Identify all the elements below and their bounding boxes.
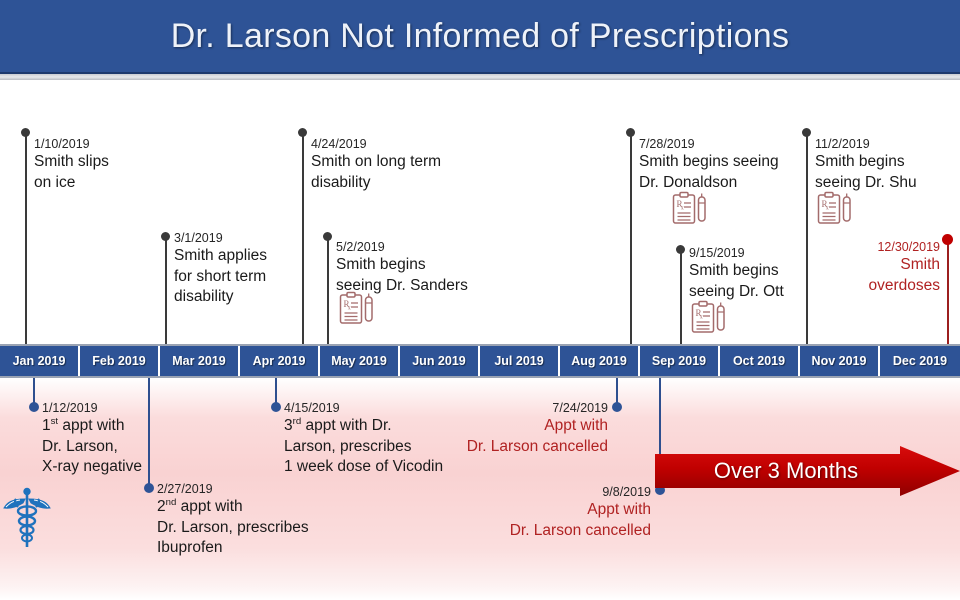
- marker-dot-3-1: [161, 232, 170, 241]
- month-cell-mar[interactable]: Mar 2019: [160, 346, 238, 376]
- event-desc-line: Dr. Larson cancelled: [440, 437, 608, 458]
- event-date: 3/1/2019: [174, 230, 267, 246]
- connector-line-9-15: [680, 250, 682, 348]
- prescription-icon: R x: [816, 191, 854, 227]
- event-above-5-2: 5/2/2019 Smith begins seeing Dr. Sanders: [336, 239, 468, 296]
- event-desc-line: 2nd appt with: [157, 497, 309, 518]
- event-desc-line: Smith on long term: [311, 152, 441, 173]
- ordinal-suffix: rd: [293, 416, 302, 427]
- event-above-7-28: 7/28/2019 Smith begins seeing Dr. Donald…: [639, 136, 779, 193]
- connector-line-2-27: [148, 378, 150, 488]
- event-desc-line: disability: [311, 173, 441, 194]
- svg-text:x: x: [348, 306, 351, 312]
- marker-dot-11-2: [802, 128, 811, 137]
- event-date: 7/28/2019: [639, 136, 779, 152]
- prescription-icon: R x: [338, 291, 376, 327]
- connector-line-3-1: [165, 237, 167, 348]
- event-above-9-15: 9/15/2019 Smith begins seeing Dr. Ott: [689, 245, 784, 302]
- event-below-2-27: 2/27/2019 2nd appt with Dr. Larson, pres…: [157, 481, 309, 559]
- connector-line-1-10: [25, 133, 27, 348]
- event-date: 1/12/2019: [42, 400, 142, 416]
- event-desc-line: Smith: [795, 255, 940, 276]
- event-desc-line: Smith begins: [689, 261, 784, 282]
- month-cell-aug[interactable]: Aug 2019: [560, 346, 638, 376]
- month-cell-sep[interactable]: Sep 2019: [640, 346, 718, 376]
- month-bar: Jan 2019 Feb 2019 Mar 2019 Apr 2019 May …: [0, 346, 960, 376]
- caduceus-icon: [3, 487, 51, 549]
- month-cell-dec[interactable]: Dec 2019: [880, 346, 960, 376]
- month-cell-jun[interactable]: Jun 2019: [400, 346, 478, 376]
- event-date: 12/30/2019: [795, 239, 940, 255]
- event-above-11-2: 11/2/2019 Smith begins seeing Dr. Shu: [815, 136, 917, 193]
- page-title: Dr. Larson Not Informed of Prescriptions: [0, 0, 960, 72]
- connector-line-5-2: [327, 237, 329, 348]
- event-date: 5/2/2019: [336, 239, 468, 255]
- event-date: 7/24/2019: [440, 400, 608, 416]
- event-desc-line: Appt with: [483, 500, 651, 521]
- ordinal-suffix: nd: [166, 497, 177, 508]
- arrow-label: Over 3 Months: [655, 446, 917, 496]
- svg-text:x: x: [826, 206, 829, 212]
- event-date: 4/15/2019: [284, 400, 443, 416]
- marker-dot-7-28: [626, 128, 635, 137]
- event-desc-line: Smith slips: [34, 152, 109, 173]
- marker-dot-1-10: [21, 128, 30, 137]
- event-above-1-10: 1/10/2019 Smith slips on ice: [34, 136, 109, 193]
- event-desc-line: X-ray negative: [42, 457, 142, 478]
- event-desc-line: overdoses: [795, 276, 940, 297]
- event-desc-line: Smith begins: [336, 255, 468, 276]
- ordinal-number: 3: [284, 417, 293, 434]
- marker-dot-4-24: [298, 128, 307, 137]
- event-desc-line: 3rd appt with Dr.: [284, 416, 443, 437]
- event-below-7-24: 7/24/2019 Appt with Dr. Larson cancelled: [440, 400, 608, 457]
- event-desc-line: on ice: [34, 173, 109, 194]
- event-below-9-8: 9/8/2019 Appt with Dr. Larson cancelled: [483, 484, 651, 541]
- event-date: 11/2/2019: [815, 136, 917, 152]
- event-desc-line: Smith begins seeing: [639, 152, 779, 173]
- connector-line-4-24: [302, 133, 304, 348]
- event-date: 2/27/2019: [157, 481, 309, 497]
- month-cell-jul[interactable]: Jul 2019: [480, 346, 558, 376]
- marker-dot-4-15: [271, 402, 281, 412]
- event-desc-line: Smith applies: [174, 246, 267, 267]
- marker-dot-5-2: [323, 232, 332, 241]
- month-bar-bottom-edge: [0, 376, 960, 378]
- event-desc-line: Dr. Donaldson: [639, 173, 779, 194]
- event-date: 9/15/2019: [689, 245, 784, 261]
- event-desc-line: Larson, prescribes: [284, 437, 443, 458]
- connector-line-12-30: [947, 240, 949, 348]
- svg-text:x: x: [681, 206, 684, 212]
- event-desc-line: seeing Dr. Ott: [689, 282, 784, 303]
- marker-dot-2-27: [144, 483, 154, 493]
- marker-dot-12-30: [942, 234, 953, 245]
- ordinal-suffix: st: [51, 416, 58, 427]
- event-date: 1/10/2019: [34, 136, 109, 152]
- slide-canvas: Dr. Larson Not Informed of Prescriptions…: [0, 0, 960, 600]
- duration-callout-arrow: Over 3 Months: [655, 446, 960, 496]
- month-cell-nov[interactable]: Nov 2019: [800, 346, 878, 376]
- marker-dot-7-24: [612, 402, 622, 412]
- svg-text:x: x: [700, 315, 703, 321]
- event-desc-line: Dr. Larson, prescribes: [157, 518, 309, 539]
- event-above-12-30: 12/30/2019 Smith overdoses: [795, 239, 940, 296]
- event-above-4-24: 4/24/2019 Smith on long term disability: [311, 136, 441, 193]
- marker-dot-1-12: [29, 402, 39, 412]
- month-cell-apr[interactable]: Apr 2019: [240, 346, 318, 376]
- ordinal-number: 2: [157, 498, 166, 515]
- connector-line-7-28: [630, 133, 632, 348]
- event-desc-line: 1st appt with: [42, 416, 142, 437]
- month-cell-jan[interactable]: Jan 2019: [0, 346, 78, 376]
- month-cell-feb[interactable]: Feb 2019: [80, 346, 158, 376]
- event-desc-line: Ibuprofen: [157, 538, 309, 559]
- event-desc-line: Appt with: [440, 416, 608, 437]
- event-desc-line: 1 week dose of Vicodin: [284, 457, 443, 478]
- title-divider: [0, 72, 960, 80]
- prescription-icon: R x: [671, 191, 709, 227]
- event-desc-line: Dr. Larson cancelled: [483, 521, 651, 542]
- event-desc-line: seeing Dr. Shu: [815, 173, 917, 194]
- title-banner: Dr. Larson Not Informed of Prescriptions: [0, 0, 960, 72]
- event-desc-line: disability: [174, 287, 267, 308]
- month-cell-may[interactable]: May 2019: [320, 346, 398, 376]
- event-desc-line: Smith begins: [815, 152, 917, 173]
- event-desc-line: Dr. Larson,: [42, 437, 142, 458]
- event-above-3-1: 3/1/2019 Smith applies for short term di…: [174, 230, 267, 308]
- event-date: 4/24/2019: [311, 136, 441, 152]
- event-below-1-12: 1/12/2019 1st appt with Dr. Larson, X-ra…: [42, 400, 142, 478]
- event-desc-line: for short term: [174, 267, 267, 288]
- event-below-4-15: 4/15/2019 3rd appt with Dr. Larson, pres…: [284, 400, 443, 478]
- event-date: 9/8/2019: [483, 484, 651, 500]
- month-cell-oct[interactable]: Oct 2019: [720, 346, 798, 376]
- marker-dot-9-15: [676, 245, 685, 254]
- prescription-icon: R x: [690, 300, 728, 336]
- ordinal-number: 1: [42, 417, 51, 434]
